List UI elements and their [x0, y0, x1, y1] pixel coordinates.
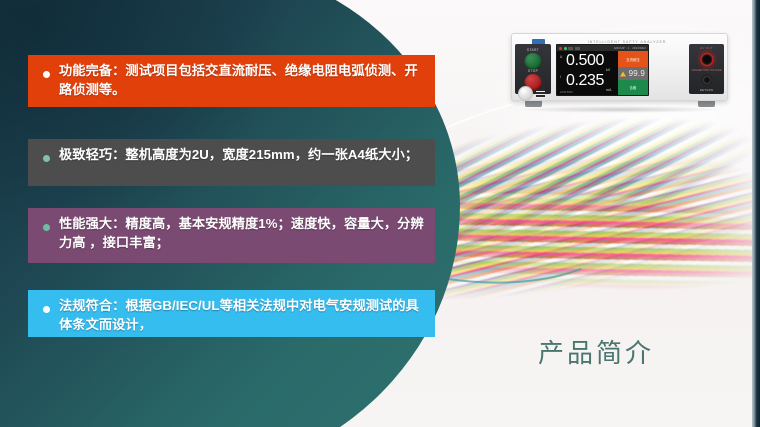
bullet-text-lightweight: 极致轻巧：整机高度为2U，宽度215mm，约一张A4纸大小；	[59, 146, 418, 165]
device-feet	[525, 100, 715, 107]
status-segment-icon	[575, 47, 580, 50]
current-unit: mA	[606, 88, 611, 93]
return-terminal[interactable]	[701, 74, 713, 86]
screen-timer-block: 99.9	[618, 67, 648, 80]
screen-mode-label: 交流耐压	[618, 51, 648, 67]
device-foot-right	[698, 100, 715, 107]
screen-footer-text: ACW 500V	[560, 91, 573, 94]
device-terminal-panel-right: HV OUT DANGER HIGH VOLTAGE RETURN	[689, 44, 724, 94]
screen-result-label: 合格	[618, 80, 648, 95]
device-screen[interactable]: GROUP : 1 - 2023/02/2 U 0.500 kV I 0.235…	[556, 44, 649, 96]
bullet-dot-icon	[43, 155, 50, 162]
bullet-text-performance: 性能强大：精度高，基本安规精度1%；速度快，容量大，分辨力高 ，接口丰富；	[59, 215, 425, 252]
current-value: 0.235	[566, 73, 604, 89]
voltage-readout: U 0.500 kV	[560, 53, 615, 73]
screen-status-text: GROUP : 1 - 2023/02/2	[614, 47, 646, 50]
status-led-red-icon	[559, 47, 562, 50]
status-led-green-icon	[564, 47, 567, 50]
rotary-knob[interactable]	[518, 86, 533, 101]
bullet-box-lightweight: 极致轻巧：整机高度为2U，宽度215mm，约一张A4纸大小；	[28, 139, 435, 186]
bullet-dot-icon	[43, 224, 50, 231]
stop-button-label: STOP	[515, 69, 551, 73]
start-button[interactable]	[525, 53, 542, 70]
slide-root: 功能完备：测试项目包括交直流耐压、绝缘电阻电弧侦测、开路侦测等。 极致轻巧：整机…	[0, 0, 760, 427]
bullet-box-performance: 性能强大：精度高，基本安规精度1%；速度快，容量大，分辨力高 ，接口丰富；	[28, 208, 435, 263]
bullet-box-compliance: 法规符合：根据GB/IEC/UL等相关法规中对电气安规测试的具体条文而设计，	[28, 290, 435, 337]
bullet-dot-icon	[43, 306, 50, 313]
device-body: INTELLIGENT SAFTY ANALYZER START STOP GR…	[511, 33, 728, 101]
return-label: RETURN	[689, 88, 724, 92]
bullet-text-features: 功能完备：测试项目包括交直流耐压、绝缘电阻电弧侦测、开路侦测等。	[59, 62, 425, 99]
start-button-label: START	[515, 48, 551, 52]
hv-out-terminal[interactable]	[699, 52, 714, 67]
hv-out-label: HV OUT	[689, 46, 724, 50]
bullet-dot-icon	[43, 71, 50, 78]
current-tag: I	[560, 75, 561, 79]
high-voltage-warning-label: DANGER HIGH VOLTAGE	[689, 69, 724, 72]
warning-triangle-icon	[620, 71, 626, 76]
device-foot-left	[525, 100, 542, 107]
bullet-text-compliance: 法规符合：根据GB/IEC/UL等相关法规中对电气安规测试的具体条文而设计，	[59, 297, 425, 334]
screen-readouts: U 0.500 kV I 0.235 mA ACW 500V	[557, 51, 618, 95]
voltage-value: 0.500	[566, 53, 604, 69]
bullet-box-features: 功能完备：测试项目包括交直流耐压、绝缘电阻电弧侦测、开路侦测等。	[28, 55, 435, 107]
voltage-tag: U	[560, 55, 562, 59]
slide-title: 产品简介	[538, 333, 654, 370]
device-shadow	[519, 106, 721, 113]
safety-analyzer-device: INTELLIGENT SAFTY ANALYZER START STOP GR…	[503, 28, 736, 116]
right-edge-strip	[752, 0, 760, 427]
screen-timer-value: 99.9	[629, 69, 645, 78]
status-segment-icon	[568, 47, 573, 50]
screen-side-panel: 交流耐压 99.9 合格	[618, 51, 648, 95]
keypad-icon[interactable]	[536, 89, 545, 98]
